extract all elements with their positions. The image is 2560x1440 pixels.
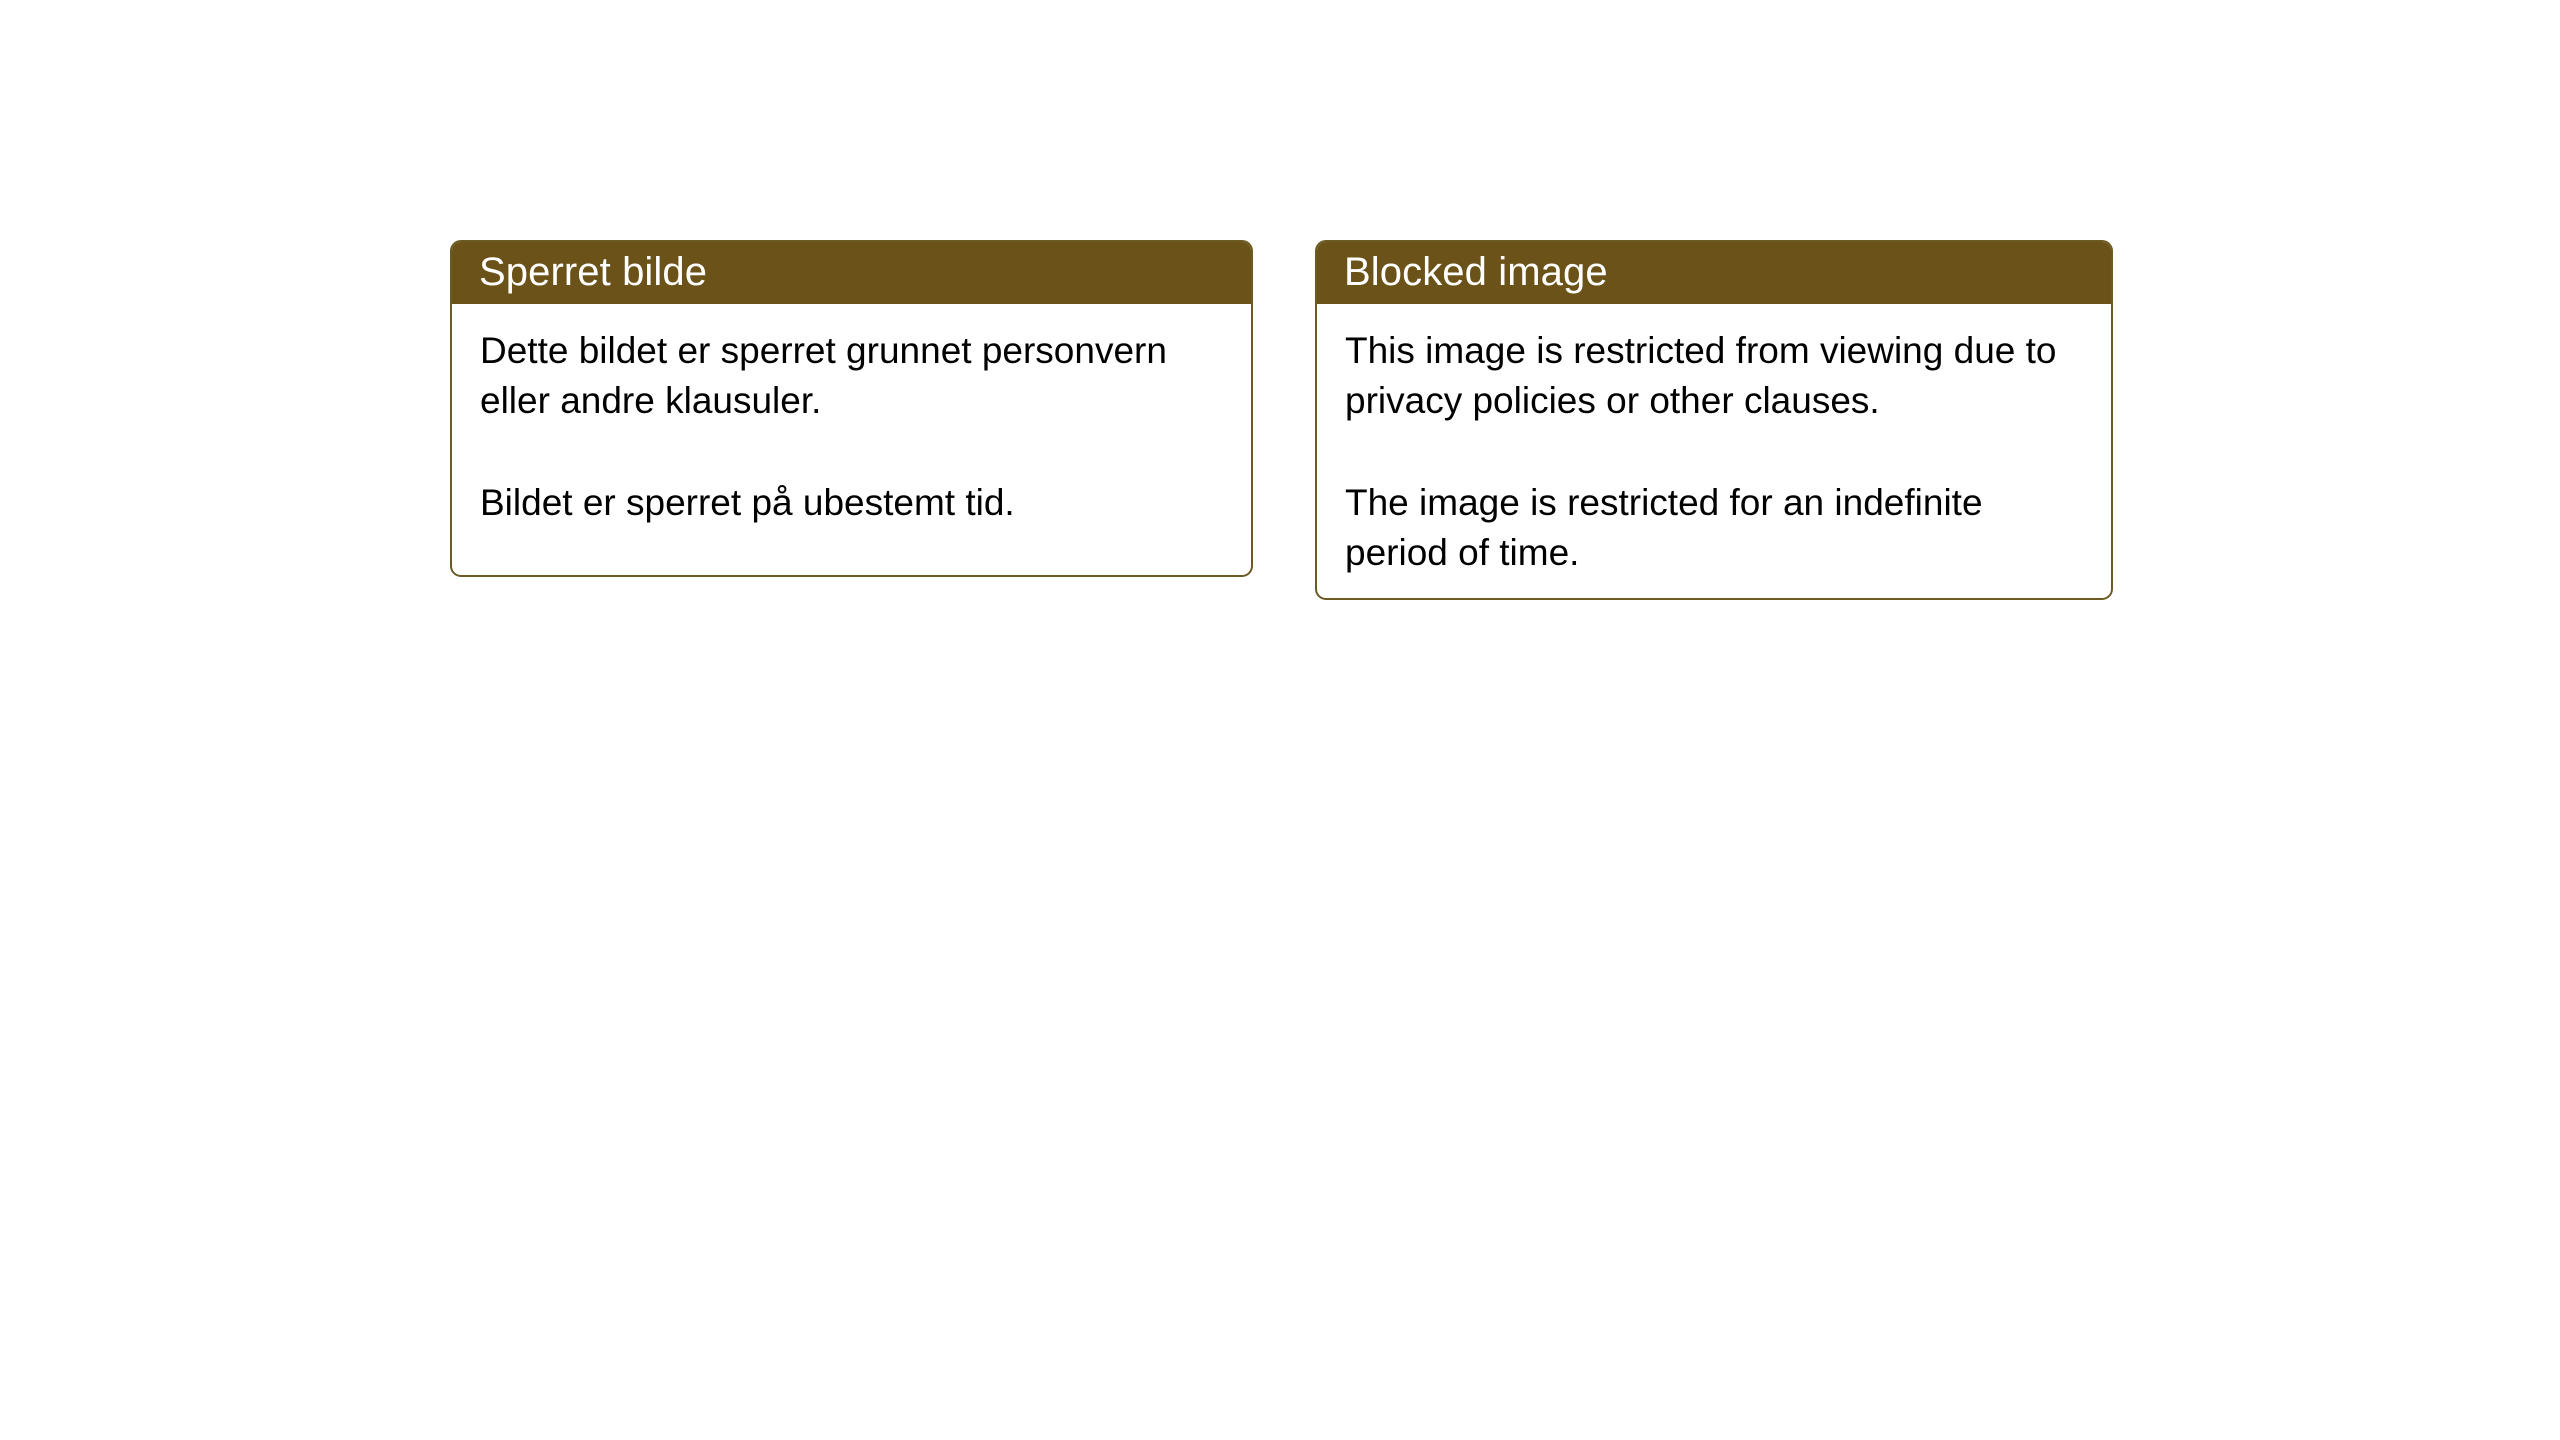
blocked-image-card-norwegian: Sperret bilde Dette bildet er sperret gr…: [450, 240, 1253, 577]
card-paragraph-duration-english: The image is restricted for an indefinit…: [1345, 478, 2085, 579]
card-header-english: Blocked image: [1315, 240, 2113, 304]
blocked-image-card-english: Blocked image This image is restricted f…: [1315, 240, 2113, 600]
card-title-english: Blocked image: [1344, 252, 1608, 292]
card-header-norwegian: Sperret bilde: [450, 240, 1253, 304]
card-paragraph-reason-norwegian: Dette bildet er sperret grunnet personve…: [480, 326, 1225, 427]
card-paragraph-reason-english: This image is restricted from viewing du…: [1345, 326, 2085, 427]
card-body-norwegian: Dette bildet er sperret grunnet personve…: [452, 304, 1251, 575]
blocked-image-notice-area: Sperret bilde Dette bildet er sperret gr…: [450, 240, 2113, 600]
card-paragraph-duration-norwegian: Bildet er sperret på ubestemt tid.: [480, 478, 1225, 528]
card-body-english: This image is restricted from viewing du…: [1317, 304, 2111, 598]
card-title-norwegian: Sperret bilde: [479, 252, 707, 292]
